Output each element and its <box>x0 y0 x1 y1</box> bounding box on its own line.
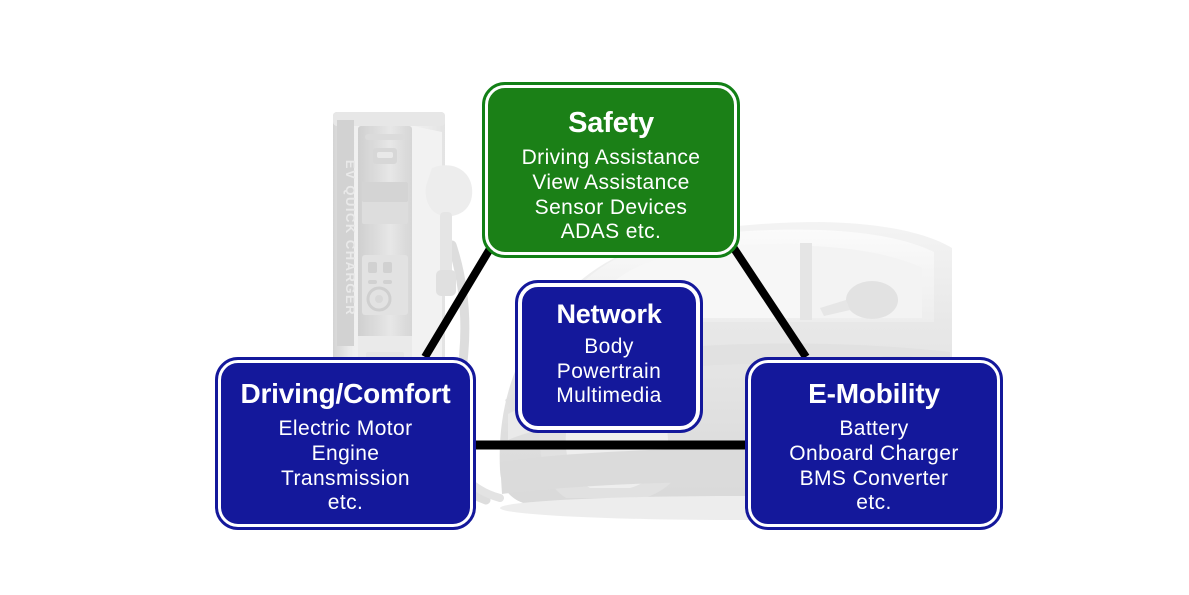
node-safety-line-4: ADAS etc. <box>522 220 701 245</box>
node-network-line-1: Body <box>556 335 662 360</box>
connector-safety-to-emobility <box>733 247 806 357</box>
node-safety[interactable]: Safety Driving Assistance View Assistanc… <box>485 85 737 255</box>
node-e-mobility-line-3: BMS Converter <box>789 467 958 492</box>
node-safety-line-3: Sensor Devices <box>522 196 701 221</box>
node-network[interactable]: Network Body Powertrain Multimedia <box>518 283 700 430</box>
node-e-mobility[interactable]: E-Mobility Battery Onboard Charger BMS C… <box>748 360 1000 527</box>
connector-safety-to-driving <box>425 247 491 357</box>
node-driving-comfort-line-1: Electric Motor <box>279 417 413 442</box>
node-safety-lines: Driving Assistance View Assistance Senso… <box>522 146 701 244</box>
node-driving-comfort-lines: Electric Motor Engine Transmission etc. <box>279 417 413 515</box>
node-e-mobility-line-4: etc. <box>789 491 958 516</box>
node-network-lines: Body Powertrain Multimedia <box>556 335 662 409</box>
node-safety-line-1: Driving Assistance <box>522 146 701 171</box>
node-driving-comfort[interactable]: Driving/Comfort Electric Motor Engine Tr… <box>218 360 473 527</box>
node-driving-comfort-line-3: Transmission <box>279 467 413 492</box>
node-safety-line-2: View Assistance <box>522 171 701 196</box>
node-driving-comfort-line-4: etc. <box>279 491 413 516</box>
node-network-title: Network <box>556 300 661 328</box>
diagram-canvas: EV QUICK CHARGER <box>0 0 1189 595</box>
node-network-line-3: Multimedia <box>556 384 662 409</box>
node-e-mobility-title: E-Mobility <box>808 379 940 408</box>
node-e-mobility-lines: Battery Onboard Charger BMS Converter et… <box>789 417 958 515</box>
node-e-mobility-line-2: Onboard Charger <box>789 442 958 467</box>
node-network-line-2: Powertrain <box>556 360 662 385</box>
node-e-mobility-line-1: Battery <box>789 417 958 442</box>
node-driving-comfort-title: Driving/Comfort <box>240 379 450 408</box>
node-driving-comfort-line-2: Engine <box>279 442 413 467</box>
node-safety-title: Safety <box>568 108 654 138</box>
